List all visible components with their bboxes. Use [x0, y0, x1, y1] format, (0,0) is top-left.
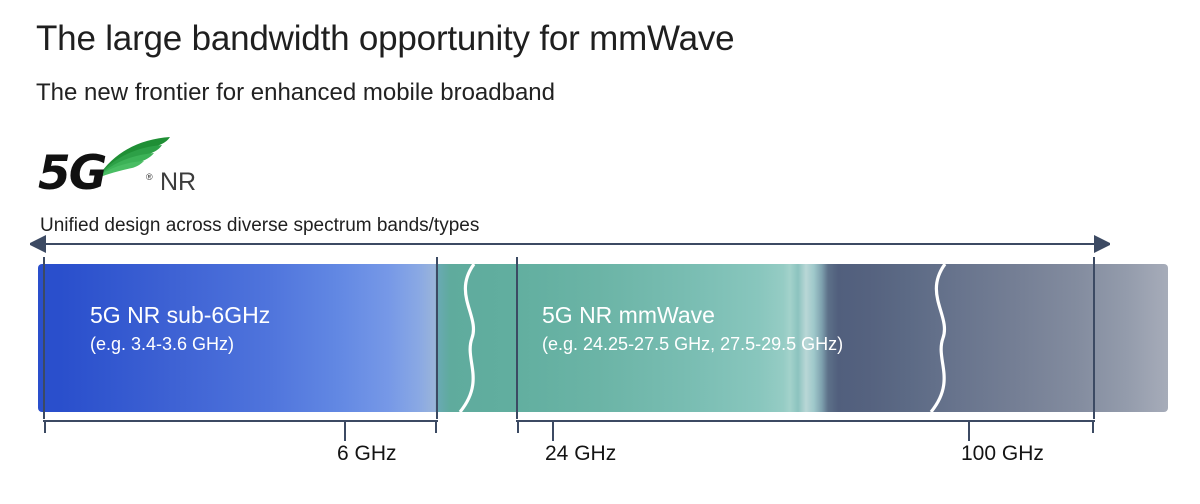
band-label-mmwave: 5G NR mmWave (e.g. 24.25-27.5 GHz, 27.5-… [542, 301, 843, 356]
logo-mark-5g: 5G [38, 150, 105, 197]
logo-trademark: ® [146, 172, 153, 182]
band-title-sub6: 5G NR sub-6GHz [90, 301, 270, 329]
slide-root: The large bandwidth opportunity for mmWa… [0, 0, 1200, 504]
page-subtitle: The new frontier for enhanced mobile bro… [36, 78, 555, 108]
band-label-sub6: 5G NR sub-6GHz (e.g. 3.4-3.6 GHz) [90, 301, 270, 356]
axis-tick-label-100ghz: 100 GHz [961, 441, 1044, 467]
page-title: The large bandwidth opportunity for mmWa… [36, 18, 734, 60]
unified-span-arrow [30, 232, 1110, 256]
band-examples-sub6: (e.g. 3.4-3.6 GHz) [90, 332, 270, 356]
logo-suffix-nr: NR [160, 170, 196, 195]
band-examples-mmwave: (e.g. 24.25-27.5 GHz, 27.5-29.5 GHz) [542, 332, 843, 356]
axis-tick-label-24ghz: 24 GHz [545, 441, 616, 467]
spectrum-bar-container: 5G NR sub-6GHz (e.g. 3.4-3.6 GHz) 5G NR … [38, 264, 1168, 412]
logo-5g-nr: 5G ® NR [38, 136, 278, 206]
axis-tick-label-6ghz: 6 GHz [337, 441, 397, 467]
band-title-mmwave: 5G NR mmWave [542, 301, 843, 329]
